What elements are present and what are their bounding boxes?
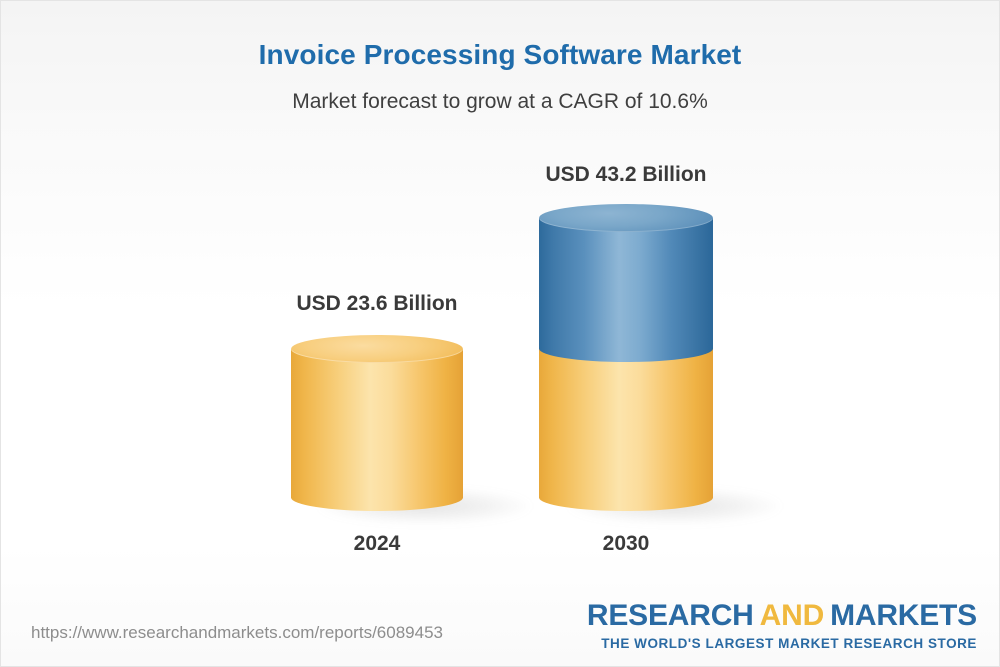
logo-tagline: THE WORLD'S LARGEST MARKET RESEARCH STOR… [587,637,977,651]
cylinder-2030-divider-cap [539,335,713,362]
value-label-2030: USD 43.2 Billion [486,163,766,187]
cylinder-2030-top-cap [539,204,713,232]
cylinder-2024-top-cap [291,335,463,363]
category-label-2024: 2024 [237,532,517,556]
category-label-2030: 2030 [486,532,766,556]
logo-word-markets: MARKETS [830,599,977,632]
cylinder-2030-segment-growth [539,218,713,349]
logo-word-and: AND [760,599,824,632]
cylinder-2024-body [291,349,463,498]
logo-wordmark: RESEARCHANDMARKETS [587,601,977,631]
cylinder-2030-segment-base [539,349,713,498]
report-url[interactable]: https://www.researchandmarkets.com/repor… [31,623,443,643]
logo-word-research: RESEARCH [587,599,754,632]
infographic-canvas: Invoice Processing Software Market Marke… [0,0,1000,667]
research-and-markets-logo[interactable]: RESEARCHANDMARKETS THE WORLD'S LARGEST M… [587,601,977,651]
bar-chart: USD 23.6 Billion 2024 USD 43.2 Billion [1,1,1000,667]
value-label-2024: USD 23.6 Billion [237,292,517,316]
